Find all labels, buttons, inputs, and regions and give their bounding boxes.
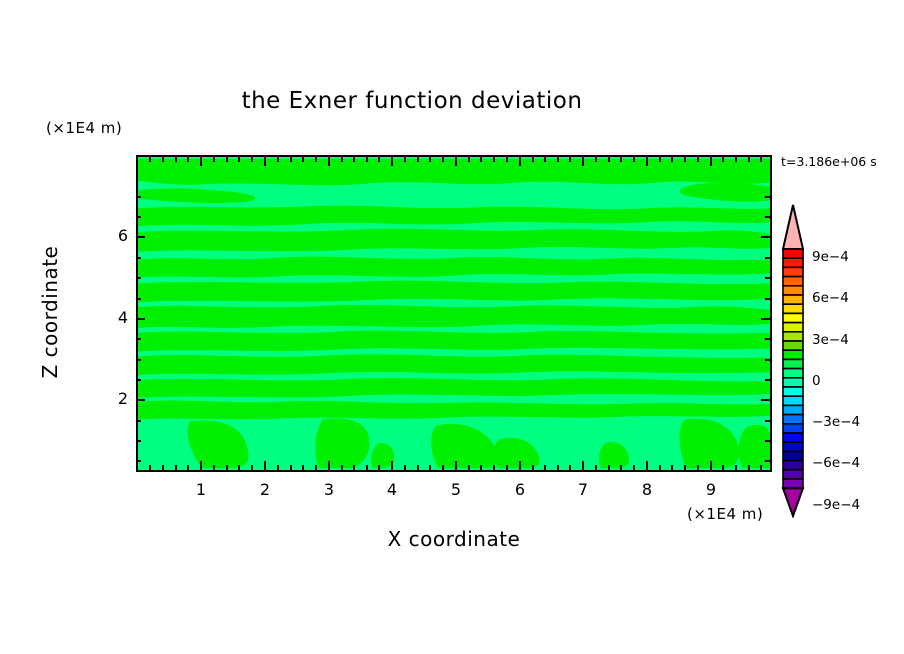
tick-y-right-minor xyxy=(765,379,770,381)
colorbar-band xyxy=(783,396,803,405)
tick-x-top-minor xyxy=(175,157,177,162)
tick-y-right-6 xyxy=(761,236,770,238)
x-axis-title: X coordinate xyxy=(136,527,772,551)
y-tick-label-4: 4 xyxy=(98,308,128,327)
colorbar-band xyxy=(783,405,803,414)
tick-x-bottom-minor xyxy=(659,465,661,470)
tick-x-top-minor xyxy=(722,157,724,162)
colorbar-band xyxy=(783,323,803,332)
colorbar-band-group xyxy=(783,249,803,488)
x-tick-label-3: 3 xyxy=(314,480,344,499)
colorbar-under-arrow xyxy=(783,488,803,516)
tick-x-top-minor xyxy=(760,157,762,162)
x-tick-label-1: 1 xyxy=(186,480,216,499)
tick-x-top-minor xyxy=(506,157,508,162)
colorbar-tick-label-m9e-4: −9e−4 xyxy=(812,497,860,513)
colorbar-tick-label-9e-4: 9e−4 xyxy=(812,249,849,265)
colorbar-band xyxy=(783,387,803,396)
contour-plot-area xyxy=(136,155,772,472)
tick-x-top-minor xyxy=(442,157,444,162)
tick-y-left-minor xyxy=(136,196,141,198)
tick-x-bottom-2 xyxy=(264,461,266,470)
tick-x-top-minor xyxy=(671,157,673,162)
colorbar-band xyxy=(783,304,803,313)
tick-y-right-minor xyxy=(765,298,770,300)
x-tick-label-7: 7 xyxy=(568,480,598,499)
tick-x-bottom-minor xyxy=(175,465,177,470)
tick-x-top-minor xyxy=(684,157,686,162)
colorbar xyxy=(780,203,806,518)
x-tick-label-2: 2 xyxy=(250,480,280,499)
tick-y-left-minor xyxy=(136,216,141,218)
tick-x-bottom-minor xyxy=(620,465,622,470)
tick-x-bottom-minor xyxy=(735,465,737,470)
tick-x-top-minor xyxy=(595,157,597,162)
tick-x-bottom-minor xyxy=(238,465,240,470)
tick-x-bottom-minor xyxy=(671,465,673,470)
colorbar-tick-label-m6e-4: −6e−4 xyxy=(812,455,860,471)
tick-y-left-minor xyxy=(136,338,141,340)
tick-y-left-minor xyxy=(136,359,141,361)
tick-x-top-minor xyxy=(659,157,661,162)
tick-y-right-minor xyxy=(765,420,770,422)
tick-x-top-minor xyxy=(493,157,495,162)
tick-x-top-minor xyxy=(697,157,699,162)
colorbar-band xyxy=(783,378,803,387)
tick-x-top-minor xyxy=(378,157,380,162)
tick-x-bottom-minor xyxy=(532,465,534,470)
tick-x-top-minor xyxy=(251,157,253,162)
colorbar-band xyxy=(783,341,803,350)
tick-y-right-minor xyxy=(765,460,770,462)
colorbar-band xyxy=(783,267,803,276)
tick-x-top-minor xyxy=(468,157,470,162)
tick-x-bottom-minor xyxy=(506,465,508,470)
colorbar-swatches xyxy=(780,203,806,518)
colorbar-band xyxy=(783,249,803,258)
colorbar-band xyxy=(783,442,803,451)
colorbar-band xyxy=(783,313,803,322)
tick-x-bottom-minor xyxy=(557,465,559,470)
tick-x-top-minor xyxy=(748,157,750,162)
timestamp-label: t=3.186e+06 s xyxy=(781,154,877,169)
tick-x-top-minor xyxy=(315,157,317,162)
tick-y-right-minor xyxy=(765,338,770,340)
tick-x-top-minor xyxy=(569,157,571,162)
colorbar-tick-label-3e-4: 3e−4 xyxy=(812,332,849,348)
tick-y-right-2 xyxy=(761,399,770,401)
colorbar-band xyxy=(783,479,803,488)
tick-x-top-8 xyxy=(646,157,648,166)
x-tick-label-6: 6 xyxy=(505,480,535,499)
colorbar-band xyxy=(783,470,803,479)
x-axis-units-label: (×1E4 m) xyxy=(687,505,763,523)
tick-x-bottom-8 xyxy=(646,461,648,470)
tick-x-top-minor xyxy=(608,157,610,162)
colorbar-band xyxy=(783,277,803,286)
y-tick-label-6: 6 xyxy=(98,226,128,245)
tick-x-bottom-minor xyxy=(480,465,482,470)
tick-y-right-minor xyxy=(765,196,770,198)
tick-x-top-1 xyxy=(200,157,202,166)
tick-y-left-2 xyxy=(136,399,145,401)
tick-x-bottom-minor xyxy=(187,465,189,470)
tick-y-left-minor xyxy=(136,379,141,381)
tick-x-bottom-minor xyxy=(417,465,419,470)
tick-x-top-minor xyxy=(149,157,151,162)
tick-x-top-minor xyxy=(213,157,215,162)
tick-x-bottom-minor xyxy=(378,465,380,470)
tick-x-bottom-minor xyxy=(748,465,750,470)
colorbar-band xyxy=(783,451,803,460)
tick-x-top-5 xyxy=(455,157,457,166)
tick-x-bottom-minor xyxy=(760,465,762,470)
tick-y-right-minor xyxy=(765,277,770,279)
plot-title-text: the Exner function deviation xyxy=(242,88,583,114)
tick-x-top-minor xyxy=(341,157,343,162)
tick-x-top-7 xyxy=(582,157,584,166)
y-tick-label-2: 2 xyxy=(98,389,128,408)
tick-x-bottom-minor xyxy=(290,465,292,470)
colorbar-band xyxy=(783,433,803,442)
x-tick-label-5: 5 xyxy=(441,480,471,499)
x-tick-label-9: 9 xyxy=(696,480,726,499)
tick-x-top-minor xyxy=(162,157,164,162)
tick-x-top-2 xyxy=(264,157,266,166)
y-axis-units-label: (×1E4 m) xyxy=(46,119,122,137)
tick-x-bottom-minor xyxy=(595,465,597,470)
colorbar-tick-label-0: 0 xyxy=(812,373,821,389)
tick-y-left-4 xyxy=(136,318,145,320)
tick-x-top-minor xyxy=(404,157,406,162)
tick-x-bottom-minor xyxy=(353,465,355,470)
tick-x-bottom-5 xyxy=(455,461,457,470)
tick-x-top-minor xyxy=(735,157,737,162)
tick-x-bottom-minor xyxy=(442,465,444,470)
x-tick-label-4: 4 xyxy=(377,480,407,499)
colorbar-band xyxy=(783,461,803,470)
tick-x-bottom-minor xyxy=(493,465,495,470)
tick-x-top-minor xyxy=(302,157,304,162)
tick-x-top-minor xyxy=(417,157,419,162)
tick-x-bottom-minor xyxy=(251,465,253,470)
tick-x-top-minor xyxy=(353,157,355,162)
tick-x-top-minor xyxy=(187,157,189,162)
tick-x-bottom-minor xyxy=(226,465,228,470)
colorbar-band xyxy=(783,359,803,368)
tick-y-left-minor xyxy=(136,298,141,300)
colorbar-tick-label-6e-4: 6e−4 xyxy=(812,290,849,306)
tick-x-top-6 xyxy=(519,157,521,166)
tick-x-bottom-7 xyxy=(582,461,584,470)
tick-x-top-minor xyxy=(557,157,559,162)
tick-x-top-minor xyxy=(480,157,482,162)
colorbar-band xyxy=(783,369,803,378)
tick-y-left-6 xyxy=(136,236,145,238)
tick-x-top-4 xyxy=(391,157,393,166)
tick-x-bottom-9 xyxy=(710,461,712,470)
x-tick-label-8: 8 xyxy=(632,480,662,499)
colorbar-tick-label-m3e-4: −3e−4 xyxy=(812,414,860,430)
tick-x-top-3 xyxy=(328,157,330,166)
tick-x-bottom-minor xyxy=(315,465,317,470)
colorbar-band xyxy=(783,286,803,295)
tick-x-bottom-minor xyxy=(429,465,431,470)
tick-y-right-minor xyxy=(765,359,770,361)
tick-y-right-minor xyxy=(765,440,770,442)
tick-x-bottom-minor xyxy=(213,465,215,470)
colorbar-band xyxy=(783,415,803,424)
y-axis-title: Z coordinate xyxy=(38,202,62,422)
tick-x-bottom-minor xyxy=(684,465,686,470)
tick-x-top-minor xyxy=(290,157,292,162)
tick-x-top-minor xyxy=(532,157,534,162)
tick-x-bottom-6 xyxy=(519,461,521,470)
tick-x-top-minor xyxy=(544,157,546,162)
tick-x-bottom-1 xyxy=(200,461,202,470)
tick-x-bottom-minor xyxy=(608,465,610,470)
tick-x-top-minor xyxy=(226,157,228,162)
colorbar-band xyxy=(783,424,803,433)
colorbar-over-arrow xyxy=(783,205,803,249)
tick-x-bottom-minor xyxy=(277,465,279,470)
tick-y-left-minor xyxy=(136,460,141,462)
tick-y-right-minor xyxy=(765,257,770,259)
tick-x-bottom-4 xyxy=(391,461,393,470)
tick-x-bottom-minor xyxy=(633,465,635,470)
tick-x-top-minor xyxy=(429,157,431,162)
colorbar-band xyxy=(783,350,803,359)
colorbar-band xyxy=(783,295,803,304)
tick-x-top-9 xyxy=(710,157,712,166)
page-title: the Exner function deviation xyxy=(0,88,904,114)
tick-x-bottom-minor xyxy=(366,465,368,470)
tick-x-bottom-minor xyxy=(404,465,406,470)
colorbar-tick-labels: 9e−4 6e−4 3e−4 0 −3e−4 −6e−4 −9e−4 xyxy=(812,203,892,518)
tick-y-left-minor xyxy=(136,440,141,442)
tick-x-bottom-minor xyxy=(697,465,699,470)
tick-x-top-minor xyxy=(277,157,279,162)
contour-field xyxy=(138,157,770,470)
tick-x-top-minor xyxy=(620,157,622,162)
tick-x-bottom-minor xyxy=(544,465,546,470)
tick-y-right-4 xyxy=(761,318,770,320)
tick-x-top-minor xyxy=(238,157,240,162)
tick-x-bottom-minor xyxy=(569,465,571,470)
tick-y-right-minor xyxy=(765,216,770,218)
tick-x-bottom-minor xyxy=(341,465,343,470)
figure-canvas: the Exner function deviation (×1E4 m) t=… xyxy=(0,0,904,654)
tick-x-top-minor xyxy=(366,157,368,162)
tick-x-bottom-minor xyxy=(149,465,151,470)
tick-x-top-minor xyxy=(633,157,635,162)
tick-x-bottom-minor xyxy=(302,465,304,470)
tick-y-left-minor xyxy=(136,257,141,259)
tick-x-bottom-3 xyxy=(328,461,330,470)
tick-y-left-minor xyxy=(136,277,141,279)
tick-x-bottom-minor xyxy=(162,465,164,470)
colorbar-band xyxy=(783,332,803,341)
tick-x-bottom-minor xyxy=(722,465,724,470)
tick-x-bottom-minor xyxy=(468,465,470,470)
tick-y-left-minor xyxy=(136,420,141,422)
colorbar-band xyxy=(783,258,803,267)
